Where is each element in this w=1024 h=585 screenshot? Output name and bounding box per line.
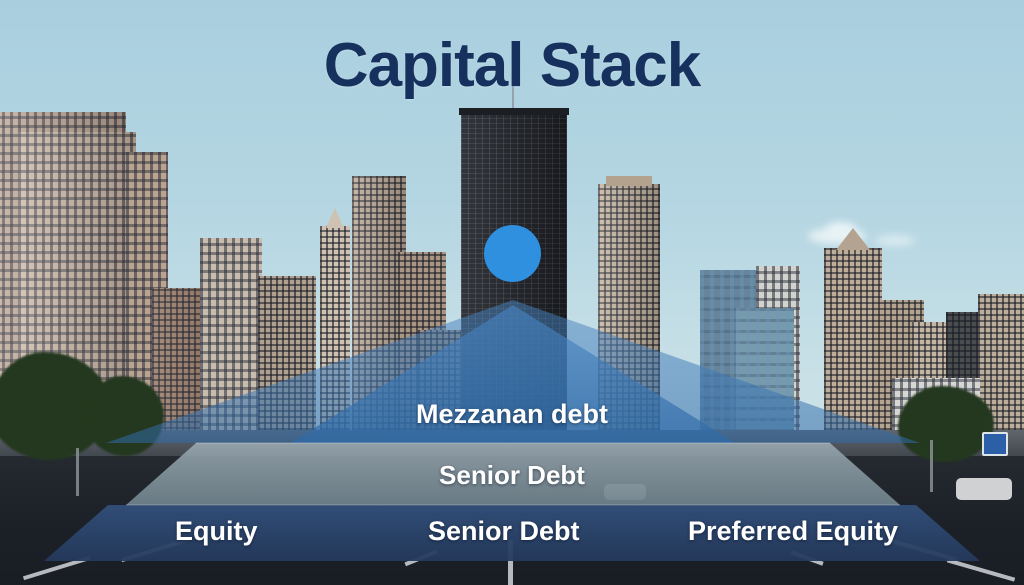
page-title: Capital Stack	[0, 30, 1024, 101]
tier-label-senior-debt: Senior Debt	[428, 516, 580, 547]
tier-label-equity: Equity	[175, 516, 258, 547]
tier-label-senior: Senior Debt	[0, 460, 1024, 491]
tier-label-preferred-equity: Preferred Equity	[688, 516, 898, 547]
tier-base-label-row: Equity Senior Debt Preferred Equity	[0, 516, 1024, 552]
capital-stack-infographic: Capital Stack Mezzanan debt Senior Debt …	[0, 0, 1024, 585]
tier-label-mezzanine: Mezzanan debt	[0, 399, 1024, 430]
